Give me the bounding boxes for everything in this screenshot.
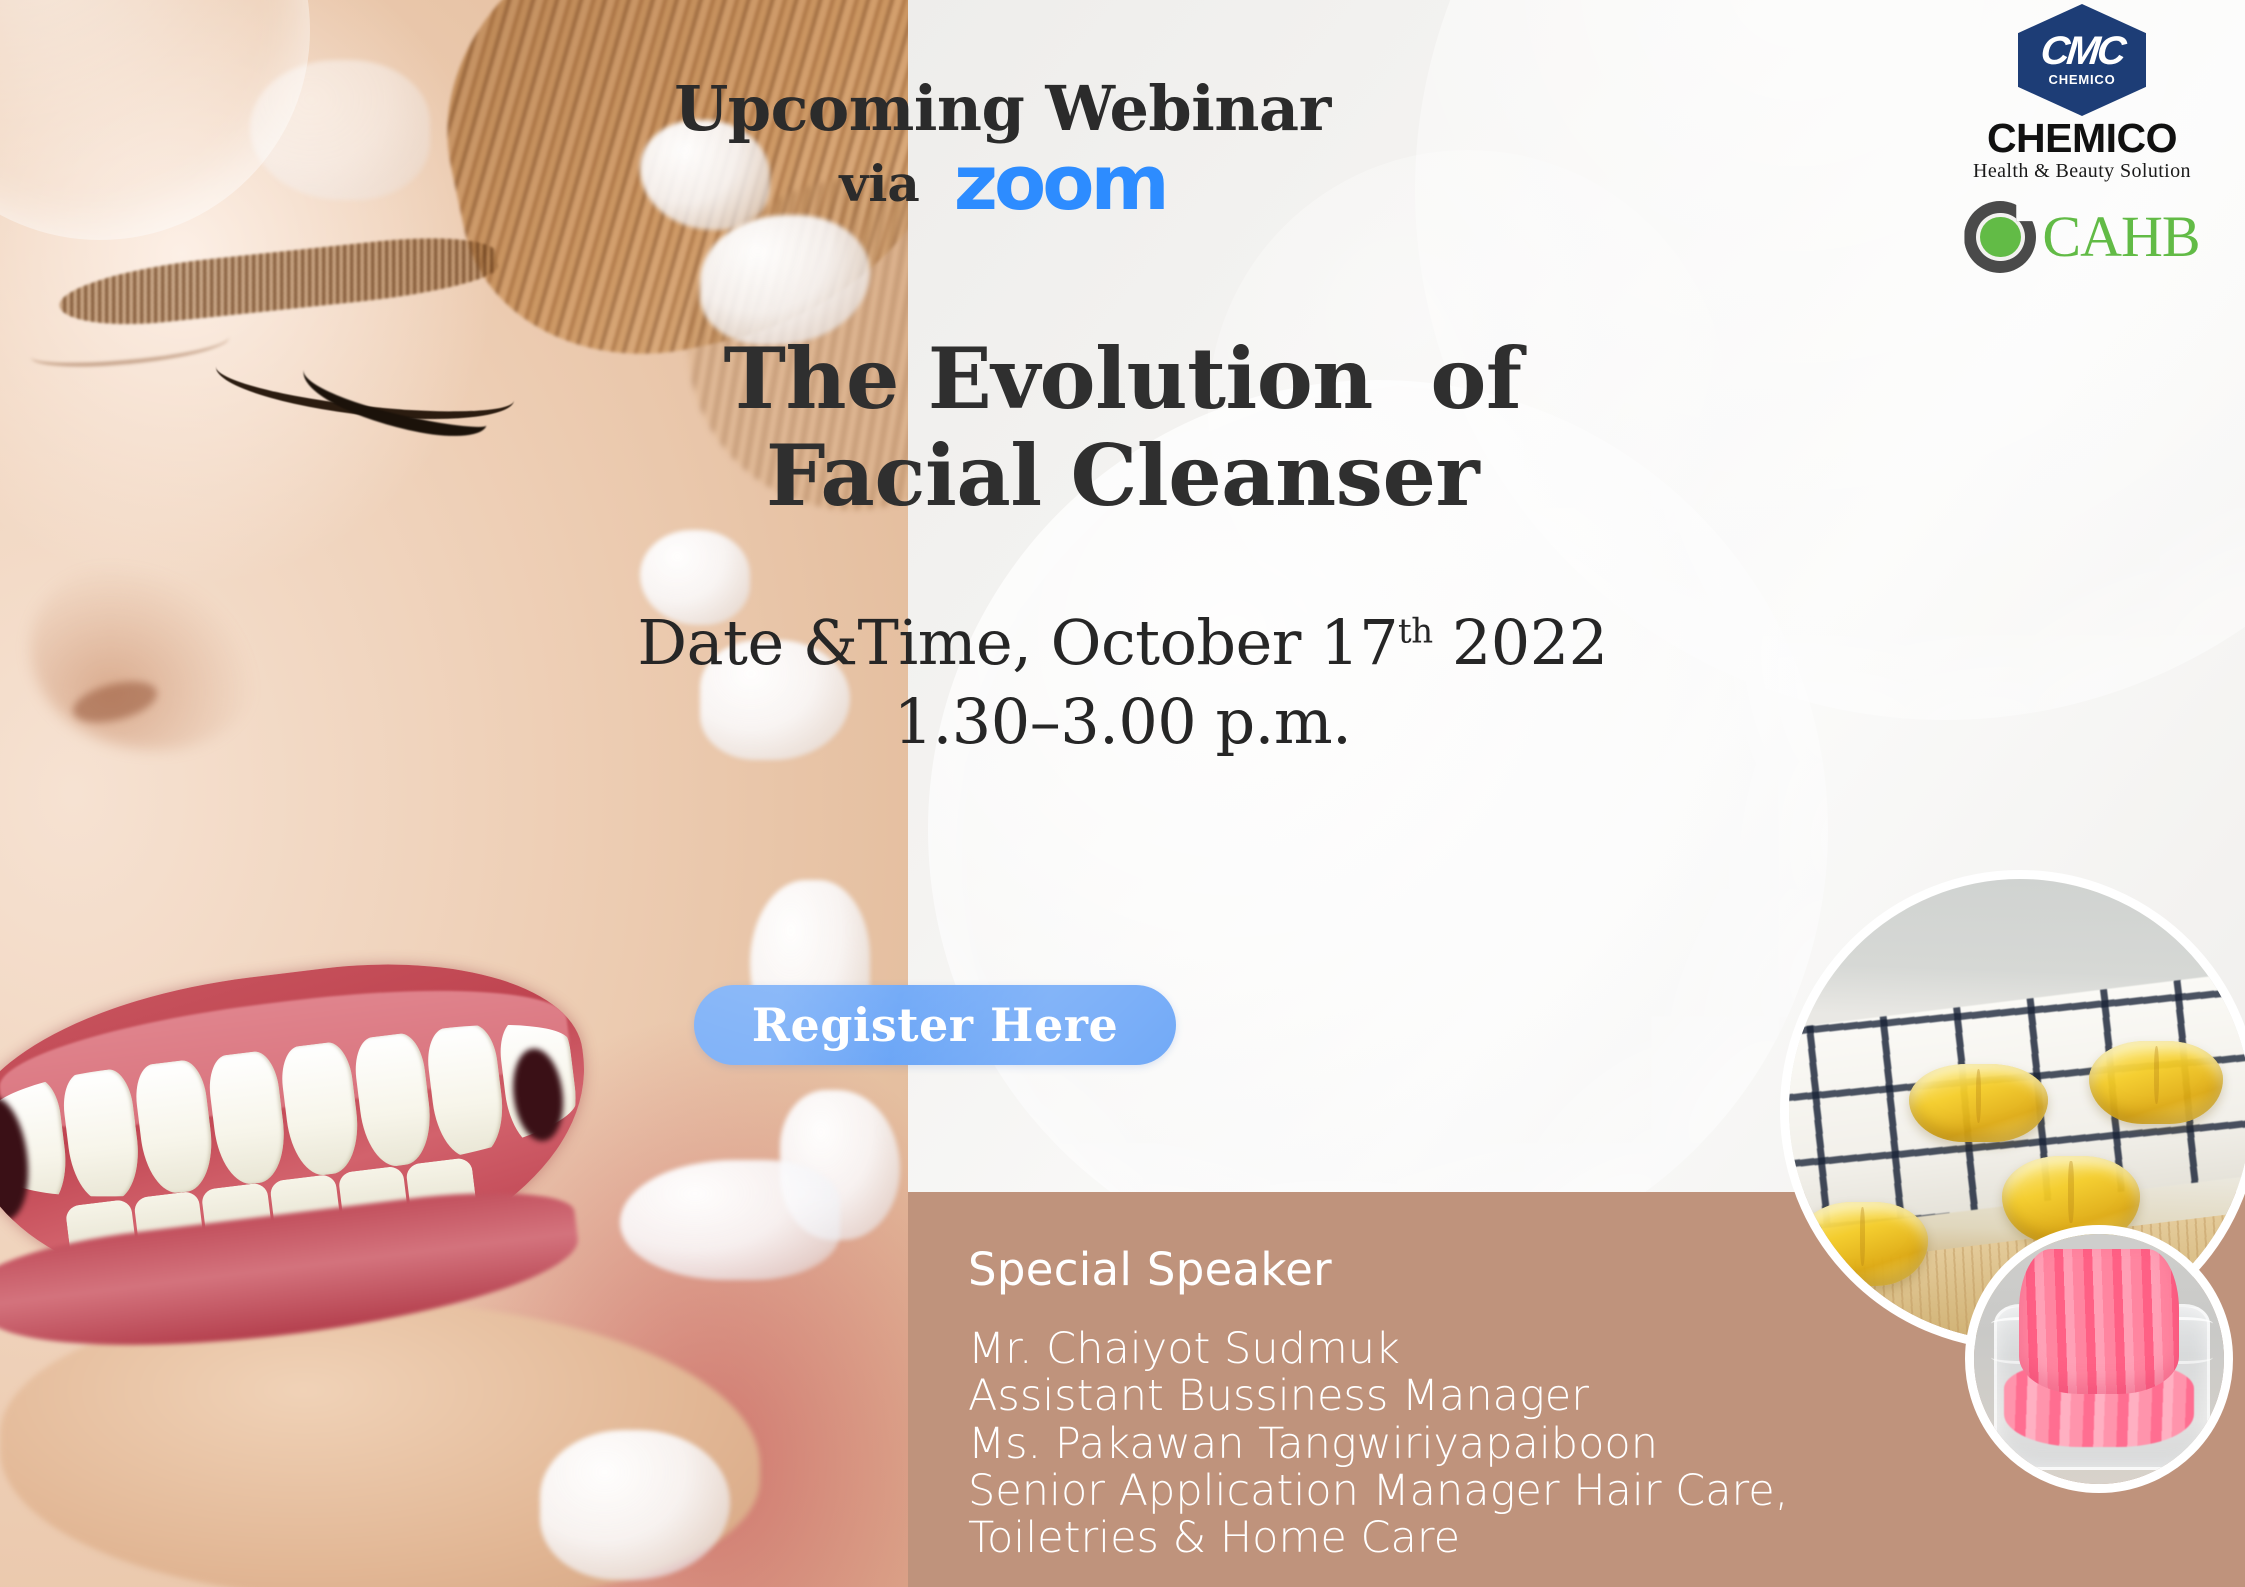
cahb-circle-icon [1964, 201, 2036, 273]
model-photo [0, 0, 908, 1587]
title-line-2: Facial Cleanser [0, 427, 2245, 524]
speaker-line: Toiletries & Home Care [968, 1515, 2245, 1562]
date-year: 2022 [1452, 606, 1608, 679]
register-button[interactable]: Register Here [694, 985, 1176, 1065]
chemico-hex-mark: CMC [2039, 33, 2125, 69]
gel-soap-bar [1909, 1064, 2048, 1143]
cahb-wordmark: CAHB [2042, 208, 2199, 266]
logo-stack: CMC CHEMICO CHEMICO Health & Beauty Solu… [1937, 4, 2227, 273]
chemico-tagline: Health & Beauty Solution [1937, 160, 2227, 183]
gel-soap-bar [2089, 1041, 2223, 1124]
chemico-wordmark: CHEMICO [1937, 118, 2227, 159]
date-prefix: Date &Time, October 17 [637, 606, 1398, 679]
date-line: Date &Time, October 17th 2022 [0, 605, 2245, 681]
title-line-1: The Evolution of [0, 330, 2245, 427]
chemico-hex-icon: CMC CHEMICO [2018, 4, 2146, 116]
gel-soap-bar [1798, 1202, 1927, 1285]
upcoming-webinar-label: Upcoming Webinar [0, 76, 2005, 141]
platform-row: via zoom [0, 149, 2005, 217]
time-line: 1.30–3.00 p.m. [0, 685, 2245, 758]
zoom-logo: zoom [954, 149, 1166, 217]
whipped-cream-swirl [2019, 1249, 2179, 1394]
page-title: The Evolution of Facial Cleanser [0, 330, 2245, 525]
product-photo-whipped-cream [1965, 1225, 2233, 1493]
foam-patch [620, 1160, 840, 1280]
via-label: via [839, 154, 919, 213]
webinar-poster: CMC CHEMICO CHEMICO Health & Beauty Solu… [0, 0, 2245, 1587]
webinar-header: Upcoming Webinar via zoom [0, 76, 2245, 217]
chemico-hex-sub: CHEMICO [2049, 72, 2116, 87]
cahb-logo: CAHB [1937, 201, 2227, 273]
schedule: Date &Time, October 17th 2022 1.30–3.00 … [0, 605, 2245, 758]
date-ordinal: th [1398, 611, 1433, 651]
